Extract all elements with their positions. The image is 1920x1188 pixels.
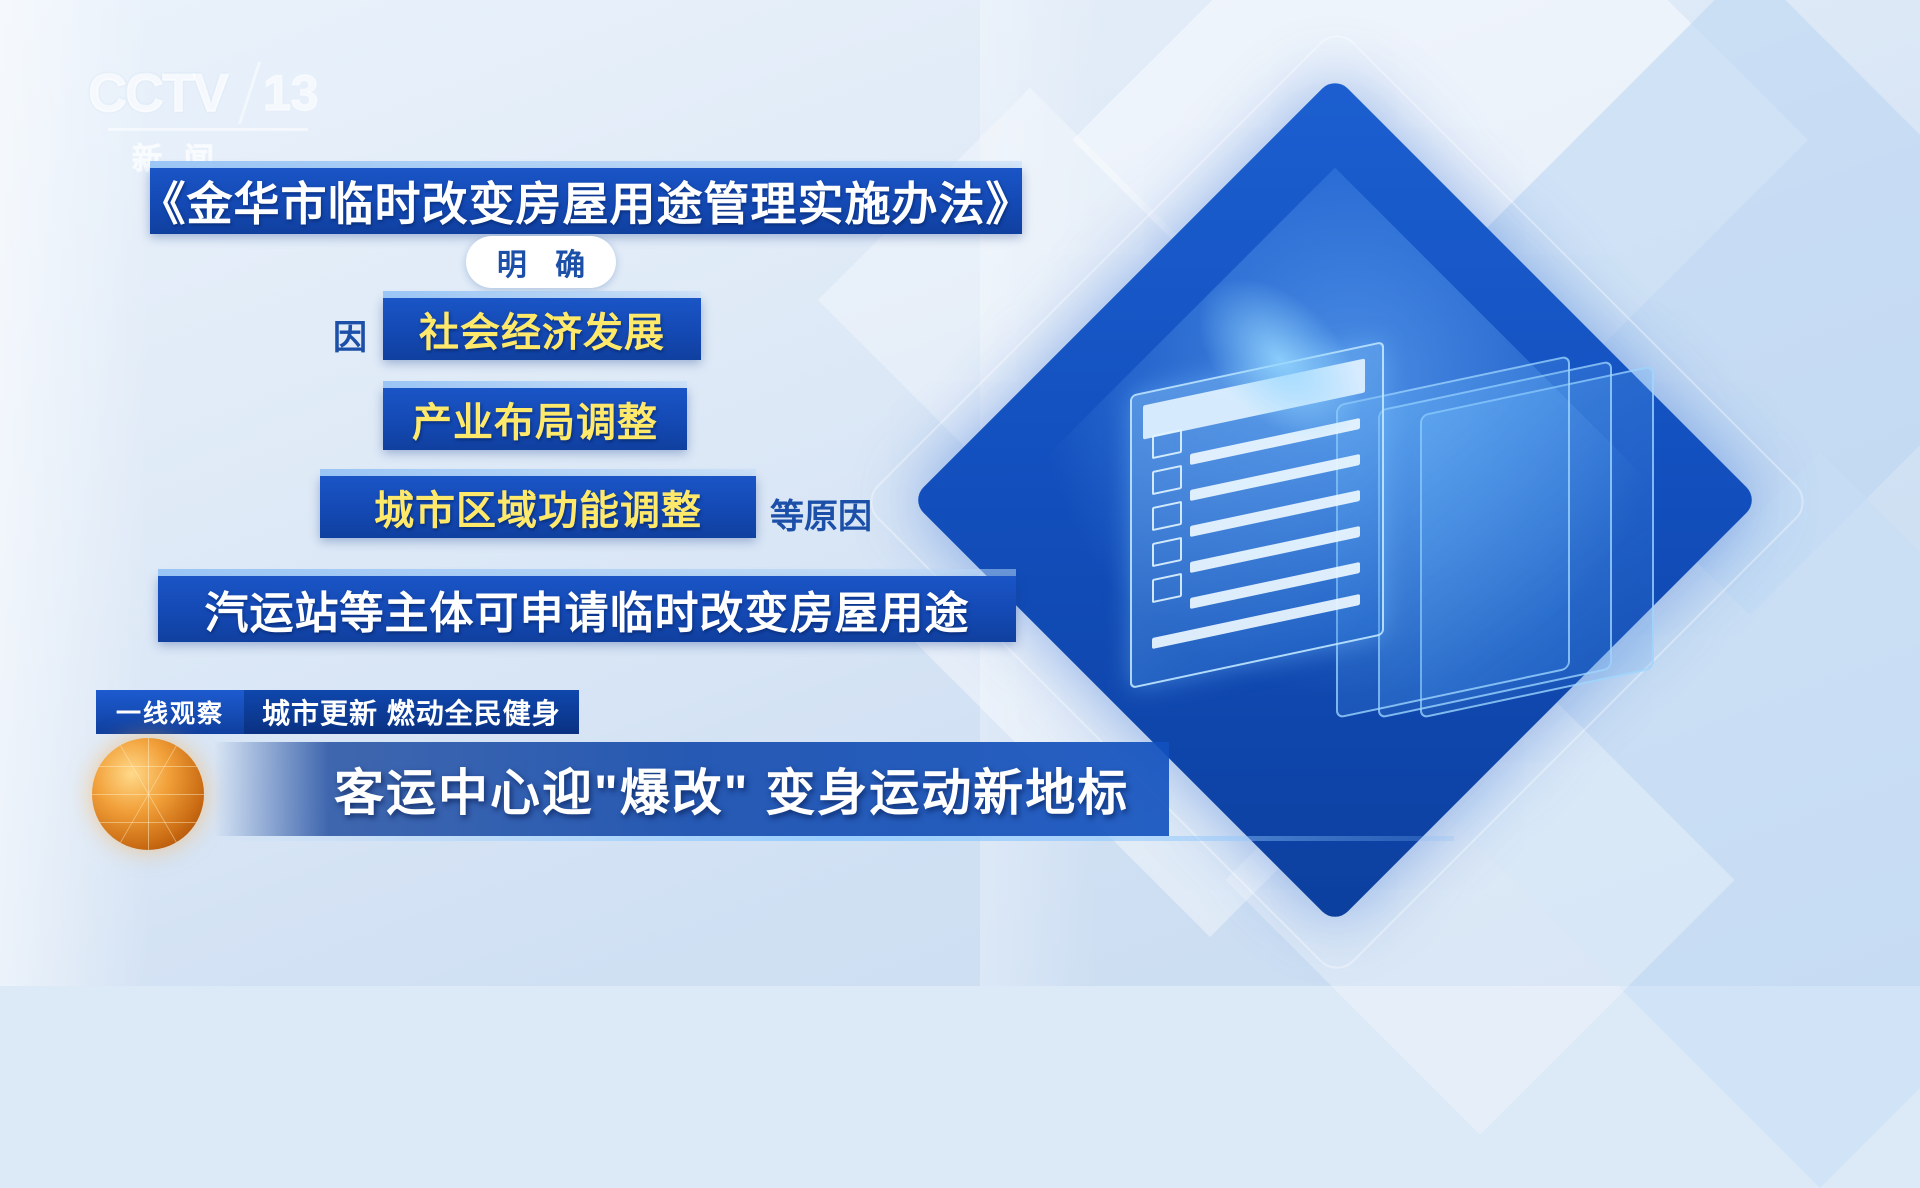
reason-banner-2: 产业布局调整 [383,388,687,450]
reason-suffix-label: 等原因 [770,489,872,538]
channel-logo: CCTV 13 新闻 [88,62,318,162]
reason-text-3: 城市区域功能调整 [374,478,702,536]
reason-banner-3: 城市区域功能调整 [320,476,756,538]
policy-title-banner: 《金华市临时改变房屋用途管理实施办法》 [150,168,1022,234]
news-headline: 客运中心迎"爆改" 变身运动新地标 [214,742,1169,836]
reason-text-2: 产业布局调整 [412,390,658,448]
logo-underline [108,128,308,131]
conclusion-text: 汽运站等主体可申请临时改变房屋用途 [205,577,970,641]
logo-divider [238,62,261,124]
reason-banner-1: 社会经济发展 [383,298,701,360]
reason-prefix-label: 因 [333,310,367,359]
policy-title-text: 《金华市临时改变房屋用途管理实施办法》 [140,168,1033,234]
lower-third-top-row: 一线观察 城市更新 燃动全民健身 [96,690,579,734]
headline-underline [214,836,1454,841]
segment-tag: 一线观察 [96,690,244,734]
clarify-pill: 明 确 [466,236,616,288]
segment-topic: 城市更新 燃动全民健身 [244,690,579,734]
clarify-pill-label: 明 确 [487,240,595,284]
cctv-wordmark: CCTV [88,62,227,124]
conclusion-banner: 汽运站等主体可申请临时改变房屋用途 [158,576,1016,642]
reason-text-1: 社会经济发展 [419,300,665,358]
channel-number: 13 [263,64,319,122]
globe-icon [92,738,204,850]
